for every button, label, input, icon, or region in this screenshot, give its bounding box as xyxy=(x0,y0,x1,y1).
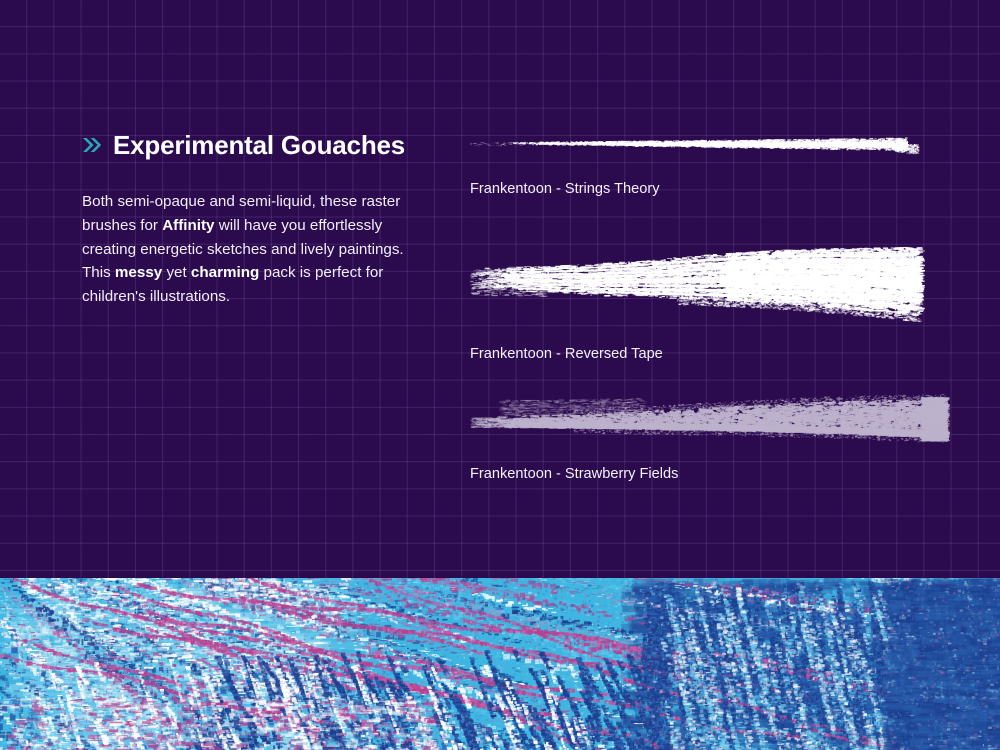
description-emphasis: Affinity xyxy=(162,217,214,234)
brush-stroke-strawberry-fields xyxy=(470,388,950,443)
page-title: Experimental Gouaches xyxy=(113,132,405,158)
slide-canvas: Experimental Gouaches Both semi-opaque a… xyxy=(0,0,1000,750)
double-chevron-right-icon xyxy=(82,134,102,156)
heading-row: Experimental Gouaches xyxy=(82,132,432,158)
text-column: Experimental Gouaches Both semi-opaque a… xyxy=(82,132,432,309)
description-emphasis: messy xyxy=(115,264,162,281)
brush-label-2: Frankentoon - Strawberry Fields xyxy=(470,467,950,482)
brush-sample-2: Frankentoon - Strawberry Fields xyxy=(470,388,950,482)
brush-sample-1: Frankentoon - Reversed Tape xyxy=(470,233,925,362)
brush-stroke-reversed-tape xyxy=(470,233,925,325)
description-paragraph: Both semi-opaque and semi-liquid, these … xyxy=(82,190,424,309)
description-emphasis: charming xyxy=(191,264,259,281)
brush-stroke-strings-theory xyxy=(470,128,920,162)
brush-sample-0: Frankentoon - Strings Theory xyxy=(470,128,920,197)
artwork-band xyxy=(0,578,1000,750)
brush-label-0: Frankentoon - Strings Theory xyxy=(470,182,920,197)
brush-label-1: Frankentoon - Reversed Tape xyxy=(470,347,925,362)
description-text: yet xyxy=(162,264,191,281)
